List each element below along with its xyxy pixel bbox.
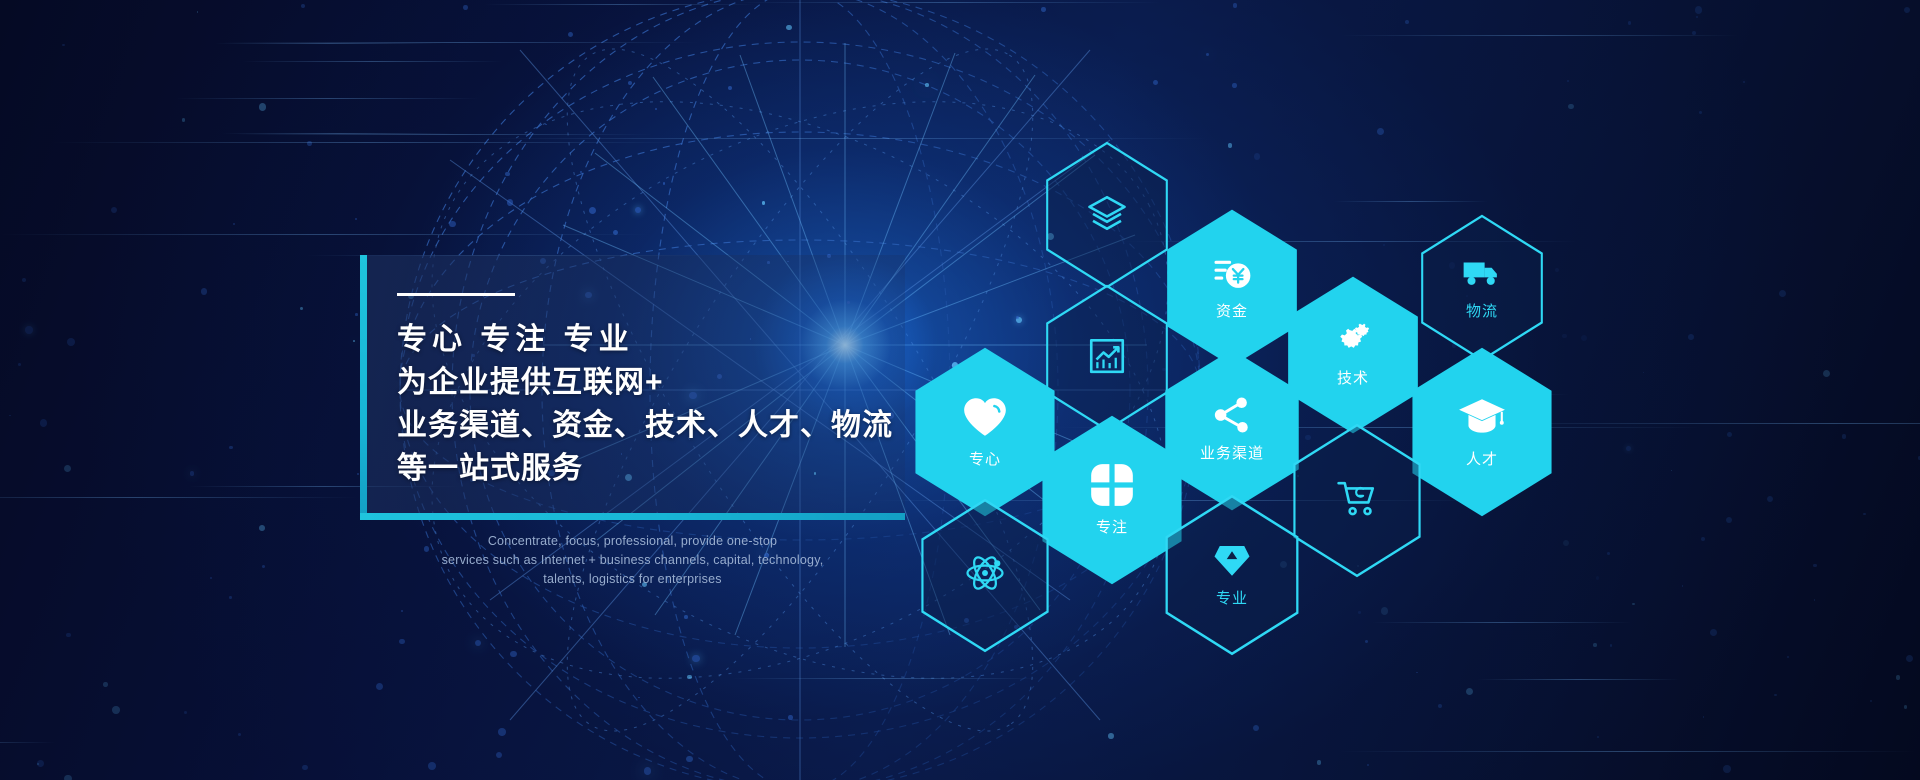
hexagon-content: 技术 bbox=[1332, 319, 1374, 388]
hexagon-heart[interactable]: 专心 bbox=[911, 346, 1059, 518]
hexagon-content: 专注 bbox=[1087, 460, 1137, 537]
hexagon-label: 物流 bbox=[1466, 300, 1498, 321]
truck-icon bbox=[1461, 252, 1503, 294]
hexagon-label: 技术 bbox=[1337, 367, 1369, 388]
yuan-money-icon bbox=[1211, 252, 1253, 294]
hexagon-content bbox=[1336, 477, 1378, 519]
atom-icon bbox=[964, 552, 1006, 594]
graduation-cap-icon bbox=[1457, 392, 1507, 442]
diamond-icon bbox=[1211, 539, 1253, 581]
heart-icon bbox=[960, 392, 1010, 442]
hexagon-content: 资金 bbox=[1211, 252, 1253, 321]
hexagon-content: 专心 bbox=[960, 392, 1010, 469]
hexagon-tech[interactable]: 技术 bbox=[1284, 275, 1422, 435]
hexagon-label: 专业 bbox=[1216, 587, 1248, 608]
hexagon-content bbox=[1086, 192, 1128, 234]
hexagon-content bbox=[1086, 335, 1128, 377]
hexagon-content: 物流 bbox=[1461, 252, 1503, 321]
hero-banner: 专心 专注 专业 为企业提供互联网+ 业务渠道、资金、技术、人才、物流 等一站式… bbox=[0, 0, 1920, 780]
clover-icon bbox=[1087, 460, 1137, 510]
hexagon-label: 专心 bbox=[969, 448, 1001, 469]
chart-growth-icon bbox=[1086, 335, 1128, 377]
hexagon-content: 人才 bbox=[1457, 392, 1507, 469]
hexagon-logistics[interactable]: 物流 bbox=[1417, 213, 1547, 363]
gears-icon bbox=[1332, 319, 1374, 361]
hexagon-pro[interactable]: 专业 bbox=[1161, 493, 1303, 657]
hexagon-content bbox=[964, 552, 1006, 594]
hexagon-label: 专注 bbox=[1096, 516, 1128, 537]
share-network-icon bbox=[1211, 394, 1253, 436]
layers-icon bbox=[1086, 192, 1128, 234]
hexagon-chart[interactable] bbox=[1042, 283, 1172, 433]
hexagon-layers[interactable] bbox=[1042, 140, 1172, 290]
hexagon-atom[interactable] bbox=[917, 497, 1053, 654]
hexagon-content: 专业 bbox=[1211, 539, 1253, 608]
hexagon-label: 资金 bbox=[1216, 300, 1248, 321]
hexagon-capital[interactable]: 资金 bbox=[1163, 208, 1301, 368]
hexagon-talent[interactable]: 人才 bbox=[1408, 346, 1556, 518]
hexagon-label: 人才 bbox=[1466, 448, 1498, 469]
hexagon-cart[interactable] bbox=[1289, 422, 1425, 579]
hexagon-content: 业务渠道 bbox=[1200, 394, 1264, 463]
hexagon-label: 业务渠道 bbox=[1200, 442, 1264, 463]
ecommerce-cart-icon bbox=[1336, 477, 1378, 519]
hexagon-cluster: 资金物流技术业务渠道人才专心专注专业 bbox=[0, 0, 1920, 780]
